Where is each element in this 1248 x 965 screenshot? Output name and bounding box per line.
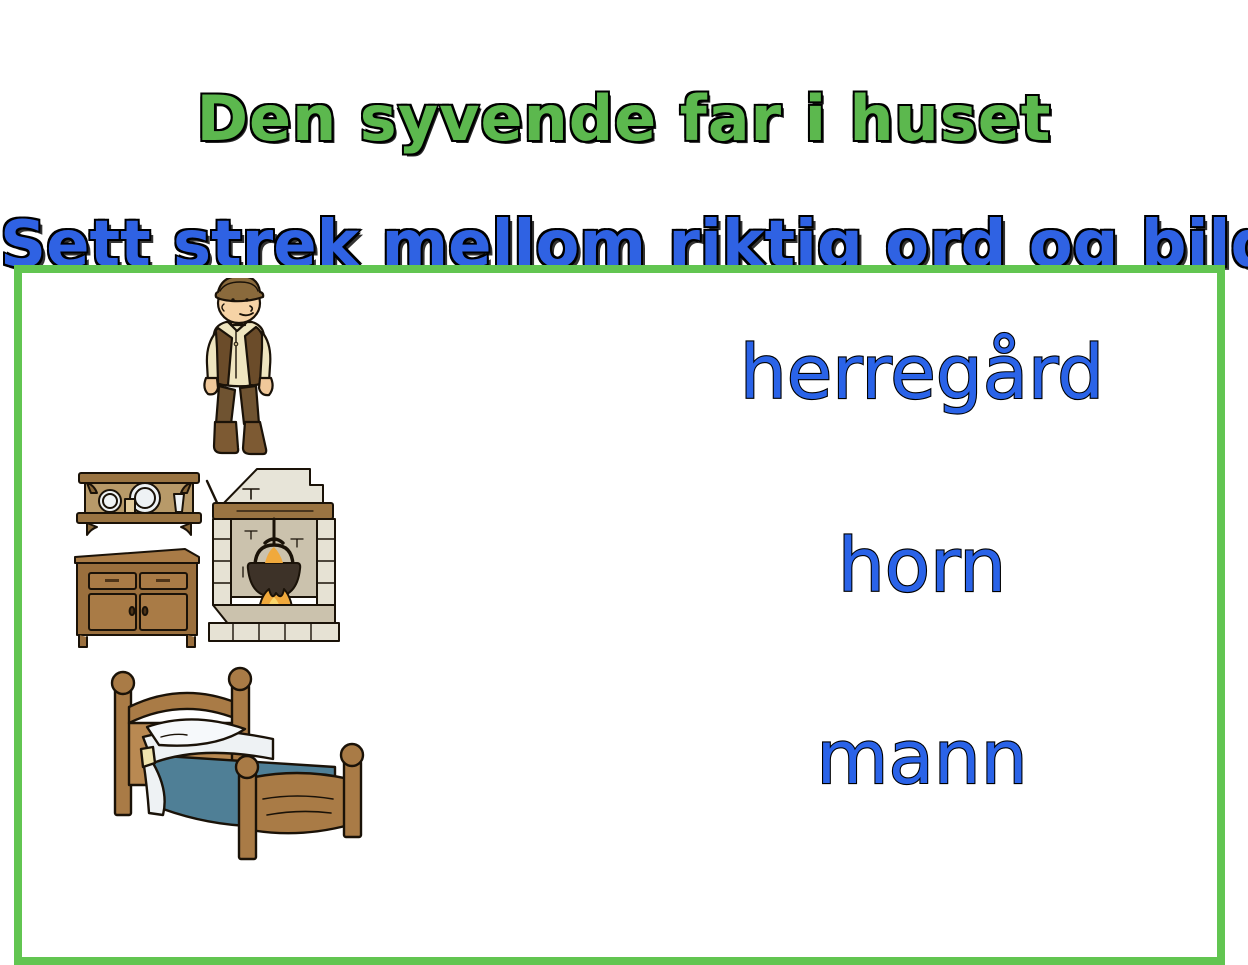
word-option-herregard[interactable]: herregård <box>612 333 1232 413</box>
word-option-horn[interactable]: horn <box>612 526 1232 606</box>
word-option-mann[interactable]: mann <box>612 718 1232 798</box>
picture-man[interactable] <box>162 278 312 468</box>
page-title: Den syvende far i huset <box>0 84 1248 154</box>
exercise-area: herregård horn mann <box>14 265 1225 965</box>
picture-bed[interactable] <box>97 663 397 863</box>
picture-kitchen[interactable] <box>67 461 387 651</box>
